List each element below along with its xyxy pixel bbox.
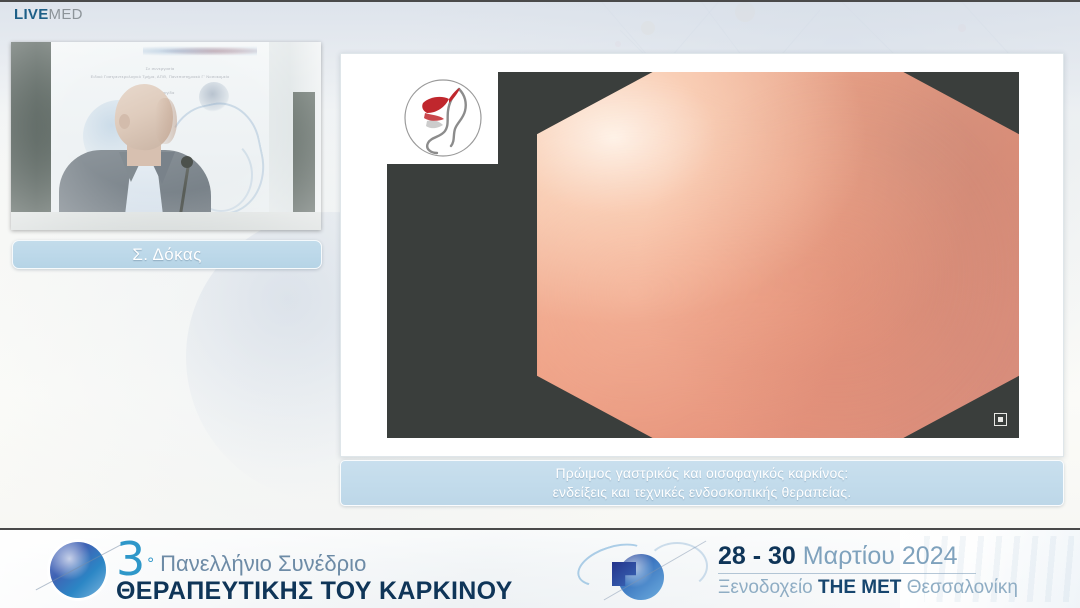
recording-indicator-icon <box>994 413 1007 426</box>
gastro-logo-svg <box>397 75 489 161</box>
conference-main-title: ΘΕΡΑΠΕΥΤΙΚΗΣ ΤΟΥ ΚΑΡΚΙΝΟΥ <box>116 577 513 606</box>
venue-prefix: Ξενοδοχείο <box>718 577 818 598</box>
conference-dates-range: 28 - 30 <box>718 542 796 570</box>
conference-ordinal-number: 3 <box>116 539 145 579</box>
presentation-title-line-2: ενδείξεις και τεχνικές ενδοσκοπικής θερα… <box>553 483 852 502</box>
conference-venue: Ξενοδοχείο THE MET Θεσσαλονίκη <box>718 577 1018 599</box>
livestream-viewer: LIVEMED Σε συνεργασία Ειδικό Γαστρεντερο… <box>0 0 1080 608</box>
livemed-logo-med: MED <box>49 6 83 23</box>
conference-title-block: 3 ° Πανελλήνιο Συνέδριο ΘΕΡΑΠΕΥΤΙΚΗΣ ΤΟΥ… <box>116 539 513 606</box>
conference-emblem-globe <box>50 542 106 598</box>
conference-dates: 28 - 30 Μαρτίου 2024 <box>718 542 1018 570</box>
video-vignette <box>11 42 321 230</box>
top-edge-rule <box>0 0 1080 2</box>
speaker-name-label: Σ. Δόκας <box>132 245 201 265</box>
venue-name: THE MET <box>818 577 901 598</box>
conference-subtitle: Πανελλήνιο Συνέδριο <box>160 551 366 577</box>
venue-city: Θεσσαλονίκη <box>901 577 1018 598</box>
conference-banner: 3 ° Πανελλήνιο Συνέδριο ΘΕΡΑΠΕΥΤΙΚΗΣ ΤΟΥ… <box>0 528 1080 608</box>
presentation-title-bar: Πρώιμος γαστρικός και οισοφαγικός καρκίν… <box>340 460 1064 506</box>
conference-ordinal-degree: ° <box>147 549 154 579</box>
slide-panel[interactable]: STATUS ■■■/■□□(13/14) Eh:A1 Cm:1 DR DOKA… <box>340 53 1064 457</box>
conference-dates-month: Μαρτίου 2024 <box>796 542 958 570</box>
date-divider <box>718 573 976 574</box>
conference-title-row: 3 ° Πανελλήνιο Συνέδριο <box>116 539 513 579</box>
congress-emblem <box>590 540 710 602</box>
speaker-name-bar: Σ. Δόκας <box>12 240 322 269</box>
endoscope-view-softlight <box>537 72 1019 438</box>
livemed-logo: LIVEMED <box>14 7 83 22</box>
conference-date-block: 28 - 30 Μαρτίου 2024 Ξενοδοχείο THE MET … <box>718 542 1018 599</box>
speaker-video-feed[interactable]: Σε συνεργασία Ειδικό Γαστρεντερολογικό Τ… <box>11 42 321 230</box>
presentation-title-line-1: Πρώιμος γαστρικός και οισοφαγικός καρκίν… <box>556 464 849 483</box>
livemed-logo-live: LIVE <box>14 6 49 23</box>
gastroenterology-logo <box>387 72 498 164</box>
